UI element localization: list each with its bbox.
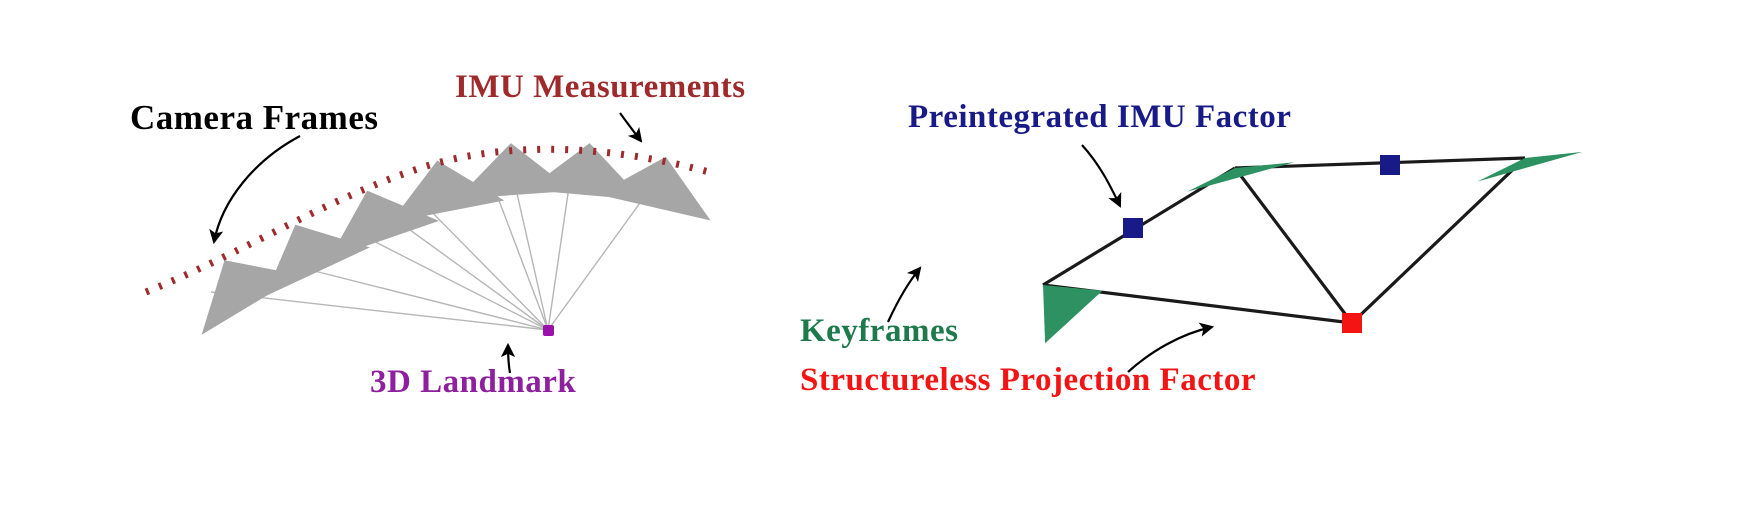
imu-factor-node bbox=[1380, 155, 1400, 175]
left-panel-graphics bbox=[146, 113, 722, 373]
projection-ray bbox=[388, 214, 548, 330]
structureless-projection-factor-label: Structureless Projection Factor bbox=[800, 364, 1256, 397]
graph-edge bbox=[1235, 168, 1352, 323]
right-panel-graphics bbox=[888, 138, 1582, 372]
projection-ray bbox=[348, 228, 548, 330]
factor-graph-edges bbox=[1043, 158, 1525, 323]
figure-root: Camera Frames IMU Measurements 3D Landma… bbox=[0, 0, 1762, 530]
projection-ray bbox=[420, 200, 548, 330]
graph-edge bbox=[1352, 158, 1525, 323]
keyframe-triangle bbox=[1037, 277, 1108, 343]
camera-frames-label: Camera Frames bbox=[130, 100, 378, 135]
preintegrated-imu-factor-label: Preintegrated IMU Factor bbox=[908, 101, 1291, 134]
keyframes-label: Keyframes bbox=[800, 315, 958, 348]
imu-measurements-annotation-arrow bbox=[620, 113, 641, 141]
landmark-marker bbox=[543, 325, 554, 336]
imu-factor-node bbox=[1123, 218, 1143, 238]
projection-factor-node bbox=[1342, 313, 1362, 333]
projection-ray bbox=[279, 262, 548, 330]
imu-measurements-label: IMU Measurements bbox=[455, 71, 746, 104]
projection-ray bbox=[548, 196, 645, 330]
preintegrated-annotation-arrow bbox=[1082, 145, 1120, 206]
landmark-label: 3D Landmark bbox=[370, 366, 576, 399]
diagram-canvas bbox=[0, 0, 1762, 530]
projection-ray bbox=[548, 180, 570, 330]
